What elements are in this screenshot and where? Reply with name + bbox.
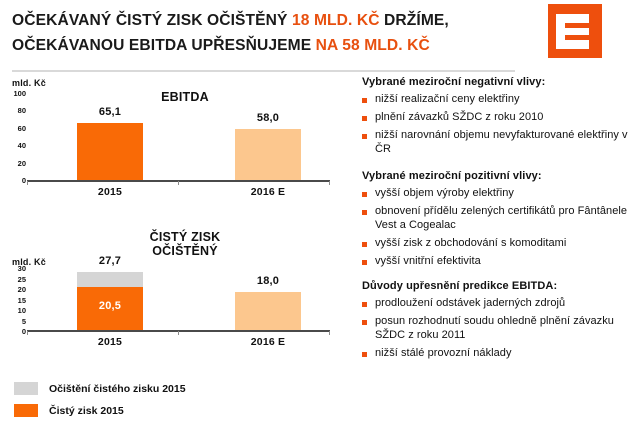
chart-ebitda-ytick-60: 60	[0, 124, 26, 133]
legend-label-ocisteni: Očištění čistého zisku 2015	[49, 383, 186, 395]
list-item: vyšší objem výroby elektřiny	[362, 187, 636, 201]
legend-item-cisty-zisk[interactable]: Čistý zisk 2015	[14, 402, 344, 419]
chart-ebitda-tick-mid	[178, 181, 179, 185]
list-item: nižší stálé provozní náklady	[362, 347, 636, 361]
bullet-text: prodloužení odstávek jaderných zdrojů	[375, 297, 565, 311]
chart-cisty-zisk-ytick-15: 15	[0, 296, 26, 305]
legend-swatch-orange-icon	[14, 404, 38, 417]
square-bullet-icon	[362, 98, 367, 103]
chart-ebitda-bar-2016e[interactable]	[235, 129, 301, 180]
chart-ebitda-ytick-100: 100	[0, 89, 26, 98]
list-item: nižší narovnání objemu nevyfakturované e…	[362, 129, 636, 156]
legend-swatch-grey-icon	[14, 382, 38, 395]
chart-cisty-zisk-ytick-25: 25	[0, 275, 26, 284]
chart-ebitda-value-2015: 65,1	[77, 106, 143, 118]
title-line-1-text-b: DRŽÍME,	[380, 12, 449, 29]
title-line-1-text-a: OČEKÁVANÝ ČISTÝ ZISK OČIŠTĚNÝ	[12, 12, 292, 29]
chart-cisty-zisk-tick-start	[27, 331, 28, 335]
chart-cisty-zisk-ytick-30: 30	[0, 264, 26, 273]
title-line-2-text-a: OČEKÁVANOU EBITDA UPŘESŇUJEME	[12, 37, 316, 54]
chart-cisty-zisk: ČISTÝ ZISK OČIŠTĚNÝ mld. Kč 30 25 20 15 …	[0, 230, 348, 350]
legend-item-ocisteni[interactable]: Očištění čistého zisku 2015	[14, 380, 344, 397]
square-bullet-icon	[362, 134, 367, 139]
bullet-text: nižší stálé provozní náklady	[375, 347, 512, 361]
page-header: OČEKÁVANÝ ČISTÝ ZISK OČIŠTĚNÝ 18 MLD. KČ…	[0, 0, 640, 72]
chart-ebitda-ytick-0: 0	[0, 176, 26, 185]
section-ebitda-reasons: Důvody upřesnění predikce EBITDA: prodlo…	[362, 280, 636, 360]
list-item: prodloužení odstávek jaderných zdrojů	[362, 297, 636, 311]
bullet-text: vyšší objem výroby elektřiny	[375, 187, 514, 201]
chart-ebitda-ytick-80: 80	[0, 106, 26, 115]
bullet-text: nižší narovnání objemu nevyfakturované e…	[375, 129, 636, 156]
list-item: vyšší vnitřní efektivita	[362, 255, 636, 269]
square-bullet-icon	[362, 352, 367, 357]
chart-ebitda-bar-2015[interactable]	[77, 123, 143, 180]
square-bullet-icon	[362, 192, 367, 197]
chart-cisty-zisk-ytick-0: 0	[0, 327, 26, 336]
chart-legend: Očištění čistého zisku 2015 Čistý zisk 2…	[14, 380, 344, 424]
chart-cisty-zisk-value-2015: 27,7	[77, 255, 143, 267]
list-item: obnovení přídělu zelených certifikátů pr…	[362, 205, 636, 232]
bullet-text: posun rozhodnutí soudu ohledně plnění zá…	[375, 315, 636, 342]
cez-logo-icon	[548, 4, 602, 58]
chart-ebitda-ytick-40: 40	[0, 141, 26, 150]
title-line-1: OČEKÁVANÝ ČISTÝ ZISK OČIŠTĚNÝ 18 MLD. KČ…	[12, 8, 532, 33]
chart-ebitda: mld. Kč EBITDA 100 80 60 40 20 0 65,1 58…	[0, 78, 348, 203]
square-bullet-icon	[362, 260, 367, 265]
bullet-text: nižší realizační ceny elektřiny	[375, 93, 520, 107]
title-line-1-highlight: 18 MLD. KČ	[292, 12, 380, 29]
list-item: vyšší zisk z obchodování s komoditami	[362, 237, 636, 251]
chart-cisty-zisk-tick-end	[329, 331, 330, 335]
square-bullet-icon	[362, 302, 367, 307]
commentary-panel: Vybrané meziroční negativní vlivy: nižší…	[362, 76, 636, 368]
chart-ebitda-tick-end	[329, 181, 330, 185]
title-line-2: OČEKÁVANOU EBITDA UPŘESŇUJEME NA 58 MLD.…	[12, 33, 532, 58]
chart-ebitda-category-2015: 2015	[77, 186, 143, 198]
square-bullet-icon	[362, 320, 367, 325]
bullet-text: plnění závazků SŽDC z roku 2010	[375, 111, 543, 125]
cez-logo	[548, 4, 602, 58]
square-bullet-icon	[362, 116, 367, 121]
chart-cisty-zisk-category-2015: 2015	[77, 336, 143, 348]
section-positive-heading: Vybrané meziroční pozitivní vlivy:	[362, 170, 636, 182]
chart-cisty-zisk-value-2016e: 18,0	[235, 275, 301, 287]
list-item: plnění závazků SŽDC z roku 2010	[362, 111, 636, 125]
chart-cisty-zisk-ytick-5: 5	[0, 317, 26, 326]
chart-ebitda-tick-start	[27, 181, 28, 185]
section-negative-influences: Vybrané meziroční negativní vlivy: nižší…	[362, 76, 636, 156]
chart-cisty-zisk-category-2016e: 2016 E	[232, 336, 304, 348]
chart-ebitda-plot: 65,1 58,0 2015 2016 E	[27, 78, 330, 203]
bullet-text: obnovení přídělu zelených certifikátů pr…	[375, 205, 636, 232]
section-negative-heading: Vybrané meziroční negativní vlivy:	[362, 76, 636, 88]
section-ebitda-reasons-heading: Důvody upřesnění predikce EBITDA:	[362, 280, 636, 292]
chart-ebitda-value-2016e: 58,0	[235, 112, 301, 124]
list-item: nižší realizační ceny elektřiny	[362, 93, 636, 107]
page-title: OČEKÁVANÝ ČISTÝ ZISK OČIŠTĚNÝ 18 MLD. KČ…	[12, 8, 532, 58]
header-divider	[12, 70, 515, 72]
section-positive-influences: Vybrané meziroční pozitivní vlivy: vyšší…	[362, 170, 636, 268]
chart-cisty-zisk-ytick-10: 10	[0, 306, 26, 315]
chart-cisty-zisk-plot: 27,7 18,0 20,5 2015 2016 E	[27, 230, 330, 350]
title-line-2-highlight: NA 58 MLD. KČ	[316, 37, 430, 54]
list-item: posun rozhodnutí soudu ohledně plnění zá…	[362, 315, 636, 342]
chart-cisty-zisk-bar-2016e[interactable]	[235, 292, 301, 330]
square-bullet-icon	[362, 242, 367, 247]
chart-cisty-zisk-tick-mid	[178, 331, 179, 335]
chart-cisty-zisk-bar-2015-ocisteni[interactable]	[77, 272, 143, 287]
chart-ebitda-ytick-20: 20	[0, 159, 26, 168]
bullet-text: vyšší zisk z obchodování s komoditami	[375, 237, 566, 251]
bullet-text: vyšší vnitřní efektivita	[375, 255, 481, 269]
chart-cisty-zisk-ytick-20: 20	[0, 285, 26, 294]
chart-cisty-zisk-inner-value-2015: 20,5	[77, 300, 143, 312]
square-bullet-icon	[362, 210, 367, 215]
legend-label-cisty-zisk: Čistý zisk 2015	[49, 405, 124, 417]
chart-ebitda-category-2016e: 2016 E	[232, 186, 304, 198]
